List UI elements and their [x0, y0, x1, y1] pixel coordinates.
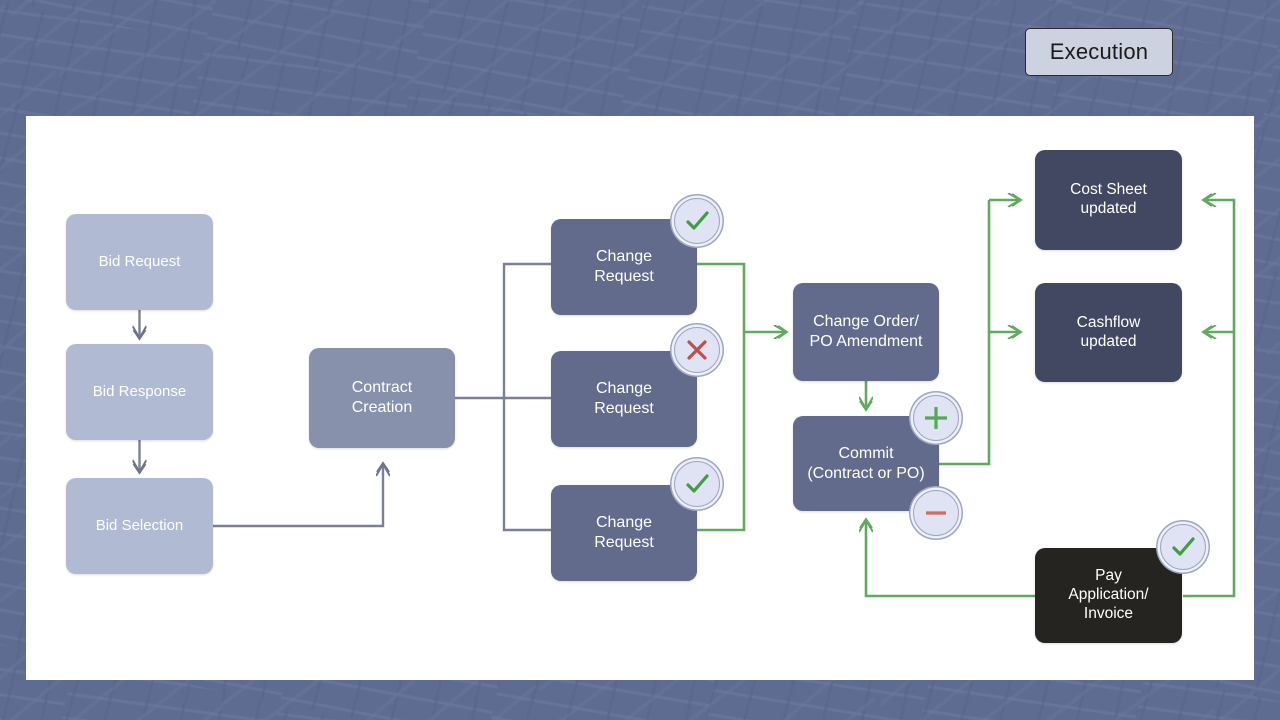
node-label: Change Order/ PO Amendment	[810, 312, 923, 351]
node-pay-application[interactable]: Pay Application/ Invoice	[1035, 548, 1182, 643]
minus-icon	[922, 499, 950, 527]
node-label: Change Request	[594, 513, 654, 552]
node-cost-sheet[interactable]: Cost Sheet updated	[1035, 150, 1182, 250]
node-label: Change Request	[594, 247, 654, 286]
badge-cr2-rejected[interactable]	[674, 327, 720, 373]
wire-bid-selection-to-contract	[213, 464, 383, 526]
plus-icon	[922, 404, 950, 432]
node-change-request-1[interactable]: Change Request	[551, 219, 697, 315]
node-change-order[interactable]: Change Order/ PO Amendment	[793, 283, 939, 381]
node-change-request-3[interactable]: Change Request	[551, 485, 697, 581]
diagram-canvas: Bid Request Bid Response Bid Selection C…	[26, 116, 1254, 680]
node-label: Bid Selection	[96, 517, 184, 535]
wire-contract-bottom	[504, 398, 551, 530]
badge-cr1-approved[interactable]	[674, 198, 720, 244]
badge-pay-approved[interactable]	[1160, 524, 1206, 570]
slide-title-text: Execution	[1050, 39, 1148, 65]
wire-cr1-to-merge	[697, 264, 744, 332]
node-label: Commit (Contract or PO)	[807, 444, 924, 483]
node-cashflow[interactable]: Cashflow updated	[1035, 283, 1182, 382]
node-change-request-2[interactable]: Change Request	[551, 351, 697, 447]
node-bid-response[interactable]: Bid Response	[66, 344, 213, 440]
cross-icon	[684, 337, 710, 363]
green-connector-group	[697, 200, 1234, 596]
wire-pay-to-commit	[866, 520, 1046, 596]
node-contract-creation[interactable]: Contract Creation	[309, 348, 455, 448]
badge-cr3-approved[interactable]	[674, 461, 720, 507]
node-label: Contract Creation	[352, 378, 412, 417]
wire-contract-trunk	[455, 264, 551, 398]
node-label: Bid Request	[99, 253, 181, 271]
node-label: Cashflow updated	[1077, 314, 1141, 352]
node-bid-selection[interactable]: Bid Selection	[66, 478, 213, 574]
slide-canvas: Execution	[0, 0, 1280, 720]
node-label: Bid Response	[93, 383, 186, 401]
check-icon	[682, 206, 712, 236]
badge-commit-sub[interactable]	[913, 490, 959, 536]
check-icon	[682, 469, 712, 499]
node-label: Change Request	[594, 379, 654, 418]
check-icon	[1168, 532, 1198, 562]
badge-commit-add[interactable]	[913, 395, 959, 441]
node-label: Cost Sheet updated	[1070, 181, 1147, 219]
node-bid-request[interactable]: Bid Request	[66, 214, 213, 310]
slide-title-chip: Execution	[1025, 28, 1173, 76]
node-label: Pay Application/ Invoice	[1068, 567, 1148, 624]
